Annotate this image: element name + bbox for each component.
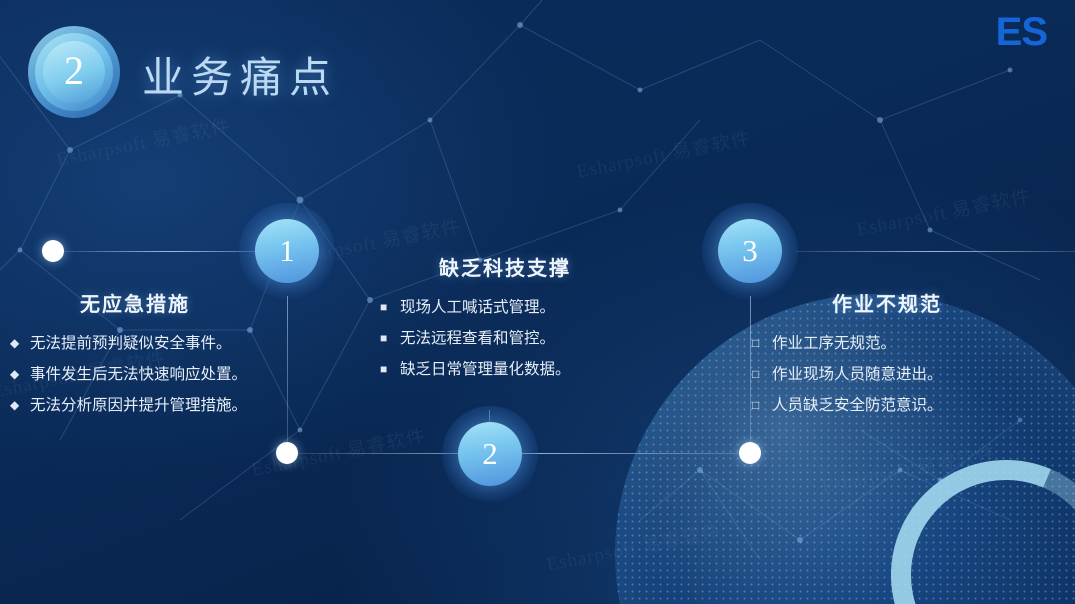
- node-number-label: 2: [482, 438, 498, 469]
- list-item: ■ 无法远程查看和管控。: [380, 324, 630, 353]
- timeline-dot-left: [42, 240, 64, 262]
- brand-logo: ES: [996, 10, 1047, 55]
- list-item: ◆ 事件发生后无法快速响应处置。: [10, 360, 260, 389]
- list-item: ◆ 无法分析原因并提升管理措施。: [10, 391, 260, 420]
- square-bullet-icon: ■: [380, 324, 400, 353]
- timeline-line-right: [795, 251, 1075, 252]
- content-column-non-standard-operations: 作业不规范 □ 作业工序无规范。 □ 作业现场人员随意进出。 □ 人员缺乏安全防…: [752, 288, 1022, 422]
- diamond-bullet-icon: ◆: [10, 329, 30, 358]
- timeline-vline-node3: [750, 296, 751, 444]
- watermark-text: Esharpsoft 易睿软件: [544, 516, 723, 576]
- hollow-square-bullet-icon: □: [752, 329, 772, 358]
- diamond-bullet-icon: ◆: [10, 360, 30, 389]
- list-item: □ 人员缺乏安全防范意识。: [752, 391, 1022, 420]
- content-column-no-emergency-measures: 无应急措施 ◆ 无法提前预判疑似安全事件。 ◆ 事件发生后无法快速响应处置。 ◆…: [10, 288, 260, 422]
- node-number-label: 1: [279, 235, 295, 266]
- bullet-list: ■ 现场人工喊话式管理。 ■ 无法远程查看和管控。 ■ 缺乏日常管理量化数据。: [380, 293, 630, 384]
- node-number-label: 3: [742, 235, 758, 266]
- list-item-text: 无法分析原因并提升管理措施。: [30, 391, 260, 420]
- page-title: 业务痛点: [142, 44, 338, 105]
- slide-root: Esharpsoft 易睿软件 Esharpsoft 易睿软件 Esharpso…: [0, 0, 1075, 604]
- timeline-dot-bottom-right: [739, 442, 761, 464]
- node-core: 1: [255, 219, 319, 283]
- list-item: ■ 现场人工喊话式管理。: [380, 293, 630, 322]
- list-item-text: 无法远程查看和管控。: [400, 324, 630, 353]
- list-item-text: 人员缺乏安全防范意识。: [772, 391, 1022, 420]
- list-item-text: 缺乏日常管理量化数据。: [400, 355, 630, 384]
- list-item: ◆ 无法提前预判疑似安全事件。: [10, 329, 260, 358]
- square-bullet-icon: ■: [380, 293, 400, 322]
- slide-header: 2 业务痛点 ES: [0, 0, 1075, 140]
- list-item-text: 事件发生后无法快速响应处置。: [30, 360, 260, 389]
- timeline-vline-node1: [287, 296, 288, 444]
- bullet-list: ◆ 无法提前预判疑似安全事件。 ◆ 事件发生后无法快速响应处置。 ◆ 无法分析原…: [10, 329, 260, 420]
- column-heading: 缺乏科技支撑: [380, 252, 630, 281]
- watermark-text: Esharpsoft 易睿软件: [854, 181, 1033, 241]
- timeline-node-1[interactable]: 1: [239, 203, 335, 299]
- hollow-square-bullet-icon: □: [752, 391, 772, 420]
- timeline-node-2[interactable]: 2: [442, 406, 538, 502]
- list-item: ■ 缺乏日常管理量化数据。: [380, 355, 630, 384]
- bullet-list: □ 作业工序无规范。 □ 作业现场人员随意进出。 □ 人员缺乏安全防范意识。: [752, 329, 1022, 420]
- list-item-text: 无法提前预判疑似安全事件。: [30, 329, 260, 358]
- list-item: □ 作业工序无规范。: [752, 329, 1022, 358]
- list-item-text: 作业工序无规范。: [772, 329, 1022, 358]
- list-item-text: 现场人工喊话式管理。: [400, 293, 630, 322]
- arc-ring-decoration: [856, 425, 1075, 604]
- badge-number-label: 2: [64, 51, 84, 91]
- section-number-badge: 2: [28, 26, 120, 118]
- content-column-lack-tech-support: 缺乏科技支撑 ■ 现场人工喊话式管理。 ■ 无法远程查看和管控。 ■ 缺乏日常管…: [380, 252, 630, 386]
- list-item-text: 作业现场人员随意进出。: [772, 360, 1022, 389]
- hollow-square-bullet-icon: □: [752, 360, 772, 389]
- square-bullet-icon: ■: [380, 355, 400, 384]
- timeline-dot-bottom-left: [276, 442, 298, 464]
- timeline-node-3[interactable]: 3: [702, 203, 798, 299]
- badge-core: 2: [43, 41, 105, 103]
- node-core: 3: [718, 219, 782, 283]
- list-item: □ 作业现场人员随意进出。: [752, 360, 1022, 389]
- diamond-bullet-icon: ◆: [10, 391, 30, 420]
- node-core: 2: [458, 422, 522, 486]
- column-heading: 作业不规范: [752, 288, 1022, 317]
- column-heading: 无应急措施: [10, 288, 260, 317]
